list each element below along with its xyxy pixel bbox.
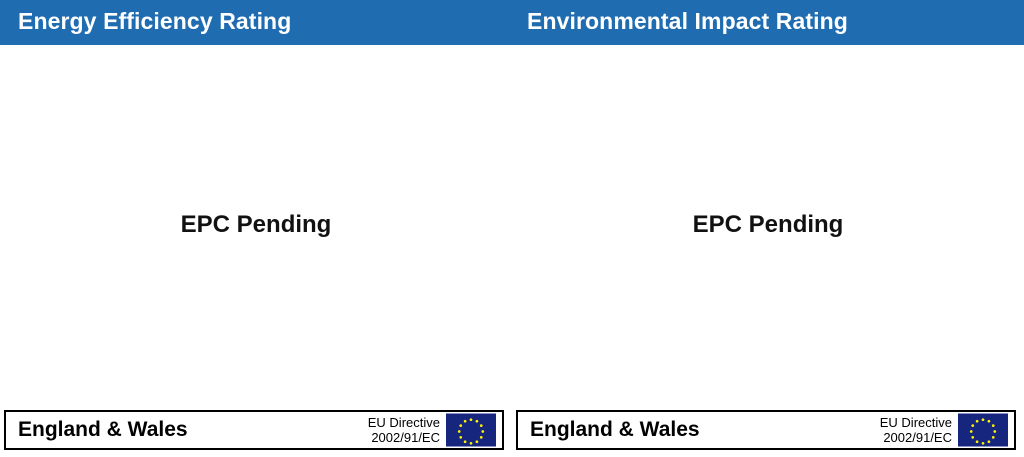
- eu-flag-icon: [446, 414, 496, 447]
- eu-directive-line1-environmental: EU Directive: [880, 415, 952, 430]
- eu-flag-icon: [958, 414, 1008, 447]
- panel-energy-efficiency: EPC Pending England & Wales EU Directive…: [0, 45, 512, 457]
- epc-pending-message-environmental: EPC Pending: [512, 211, 1024, 239]
- energy-efficiency-rating-title: Energy Efficiency Rating: [18, 8, 291, 35]
- footer-energy-efficiency: England & Wales EU Directive 2002/91/EC: [4, 410, 504, 450]
- environmental-impact-rating-title: Environmental Impact Rating: [527, 8, 848, 35]
- header-bar: Energy Efficiency Rating Environmental I…: [0, 0, 1024, 45]
- footer-environmental-impact: England & Wales EU Directive 2002/91/EC: [516, 410, 1016, 450]
- panel-environmental-impact: EPC Pending England & Wales EU Directive…: [512, 45, 1024, 457]
- eu-directive-energy: EU Directive 2002/91/EC: [368, 415, 440, 445]
- region-label-energy: England & Wales: [18, 418, 188, 442]
- epc-certificate-graphic: Energy Efficiency Rating Environmental I…: [0, 0, 1024, 457]
- eu-directive-line2-energy: 2002/91/EC: [368, 430, 440, 445]
- eu-directive-line2-environmental: 2002/91/EC: [880, 430, 952, 445]
- epc-pending-message-energy: EPC Pending: [0, 211, 512, 239]
- eu-directive-line1-energy: EU Directive: [368, 415, 440, 430]
- eu-directive-environmental: EU Directive 2002/91/EC: [880, 415, 952, 445]
- region-label-environmental: England & Wales: [530, 418, 700, 442]
